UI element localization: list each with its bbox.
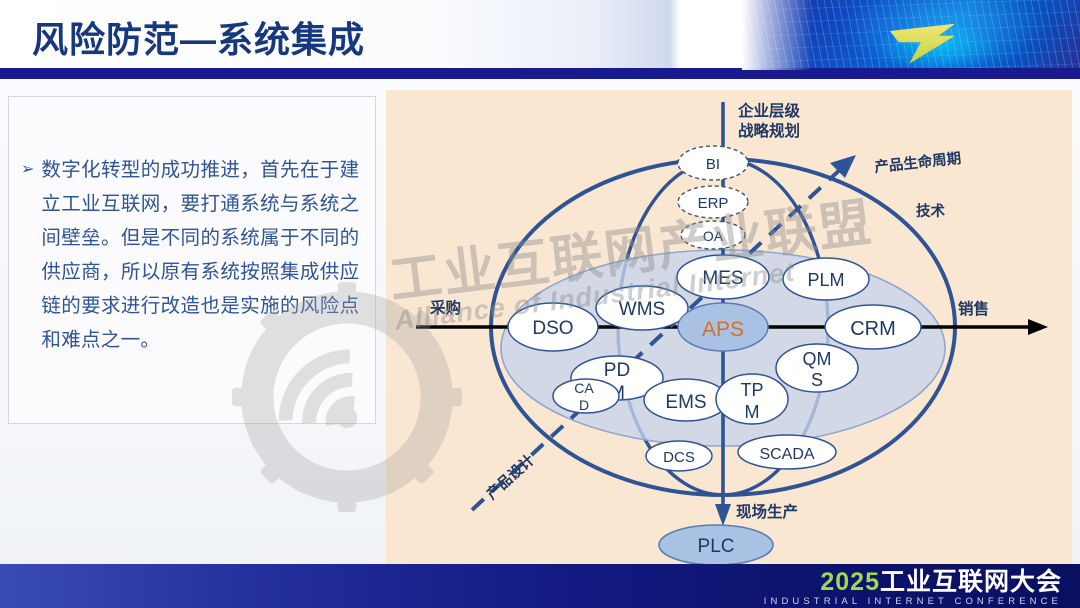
conference-logo: 2025工业互联网大会 INDUSTRIAL INTERNET CONFEREN… [764, 569, 1062, 607]
page-title: 风险防范—系统集成 [32, 11, 365, 63]
node-dcs-label: DCS [663, 449, 695, 466]
node-cad-label: CA [574, 380, 594, 396]
header-art-fade [742, 0, 812, 70]
node-tpm-label: TP [740, 380, 763, 400]
bullet-item: ➢ 数字化转型的成功推进，首先在于建立工业互联网，要打通系统与系统之间壁垒。但是… [21, 153, 367, 357]
node-pdm-label: PD [604, 360, 630, 381]
system-integration-diagram: 企业层级 战略规划 现场生产 采购 销售 产品生命周期 技术 产品设计 BI E… [386, 90, 1072, 564]
conference-year: 2025 [820, 568, 880, 596]
horizontal-axis-arrowhead [1028, 319, 1048, 335]
node-erp-label: ERP [698, 195, 729, 212]
axis-label-product-lifecycle: 产品生命周期 [874, 149, 962, 176]
node-wms-label: WMS [619, 299, 665, 320]
axis-label-top-line2: 战略规划 [738, 121, 800, 140]
node-tpm-label-cont: M [745, 402, 760, 422]
axis-label-right-sales: 销售 [958, 299, 989, 318]
axis-label-bottom: 现场生产 [736, 502, 798, 521]
header-decoration-art [742, 0, 1080, 70]
node-aps-label: APS [702, 318, 744, 341]
diagram-canvas: 企业层级 战略规划 现场生产 采购 销售 产品生命周期 技术 产品设计 BI E… [386, 90, 1072, 564]
axis-label-technology: 技术 [916, 202, 945, 220]
vertical-axis-arrowhead [715, 504, 731, 526]
axis-label-product-design: 产品设计 [483, 450, 539, 503]
node-cad-label-cont: D [579, 397, 589, 413]
bullet-arrow-icon: ➢ [21, 153, 34, 187]
node-plm-label: PLM [807, 270, 844, 290]
node-qms-label-cont: S [811, 370, 823, 390]
conference-title-en: INDUSTRIAL INTERNET CONFERENCE [764, 596, 1062, 607]
node-oa-label: OA [703, 228, 724, 244]
node-scada-label: SCADA [759, 446, 814, 463]
conference-logo-line1: 2025工业互联网大会 [764, 569, 1062, 595]
title-divider-rule [0, 68, 1080, 79]
node-mes-label: MES [702, 268, 743, 289]
conference-title-cn: 工业互联网大会 [880, 568, 1062, 596]
node-ems-label: EMS [665, 392, 706, 413]
axis-label-left-procurement: 采购 [429, 298, 461, 317]
node-dso-label: DSO [532, 318, 573, 339]
slide-root: 风险防范—系统集成 ➢ 数字化转型的成功推进，首先在于建立工业互联网，要打通系统… [0, 0, 1080, 608]
node-qms-label: QM [803, 349, 832, 369]
node-plc-label: PLC [698, 536, 735, 557]
node-crm-label: CRM [850, 318, 896, 340]
axis-label-top-line1: 企业层级 [737, 101, 801, 120]
bullet-text-panel: ➢ 数字化转型的成功推进，首先在于建立工业互联网，要打通系统与系统之间壁垒。但是… [8, 96, 376, 424]
slide-footer: 2025工业互联网大会 INDUSTRIAL INTERNET CONFEREN… [0, 564, 1080, 608]
node-bi-label: BI [706, 156, 720, 173]
bullet-body-text: 数字化转型的成功推进，首先在于建立工业互联网，要打通系统与系统之间壁垒。但是不同… [41, 153, 359, 357]
